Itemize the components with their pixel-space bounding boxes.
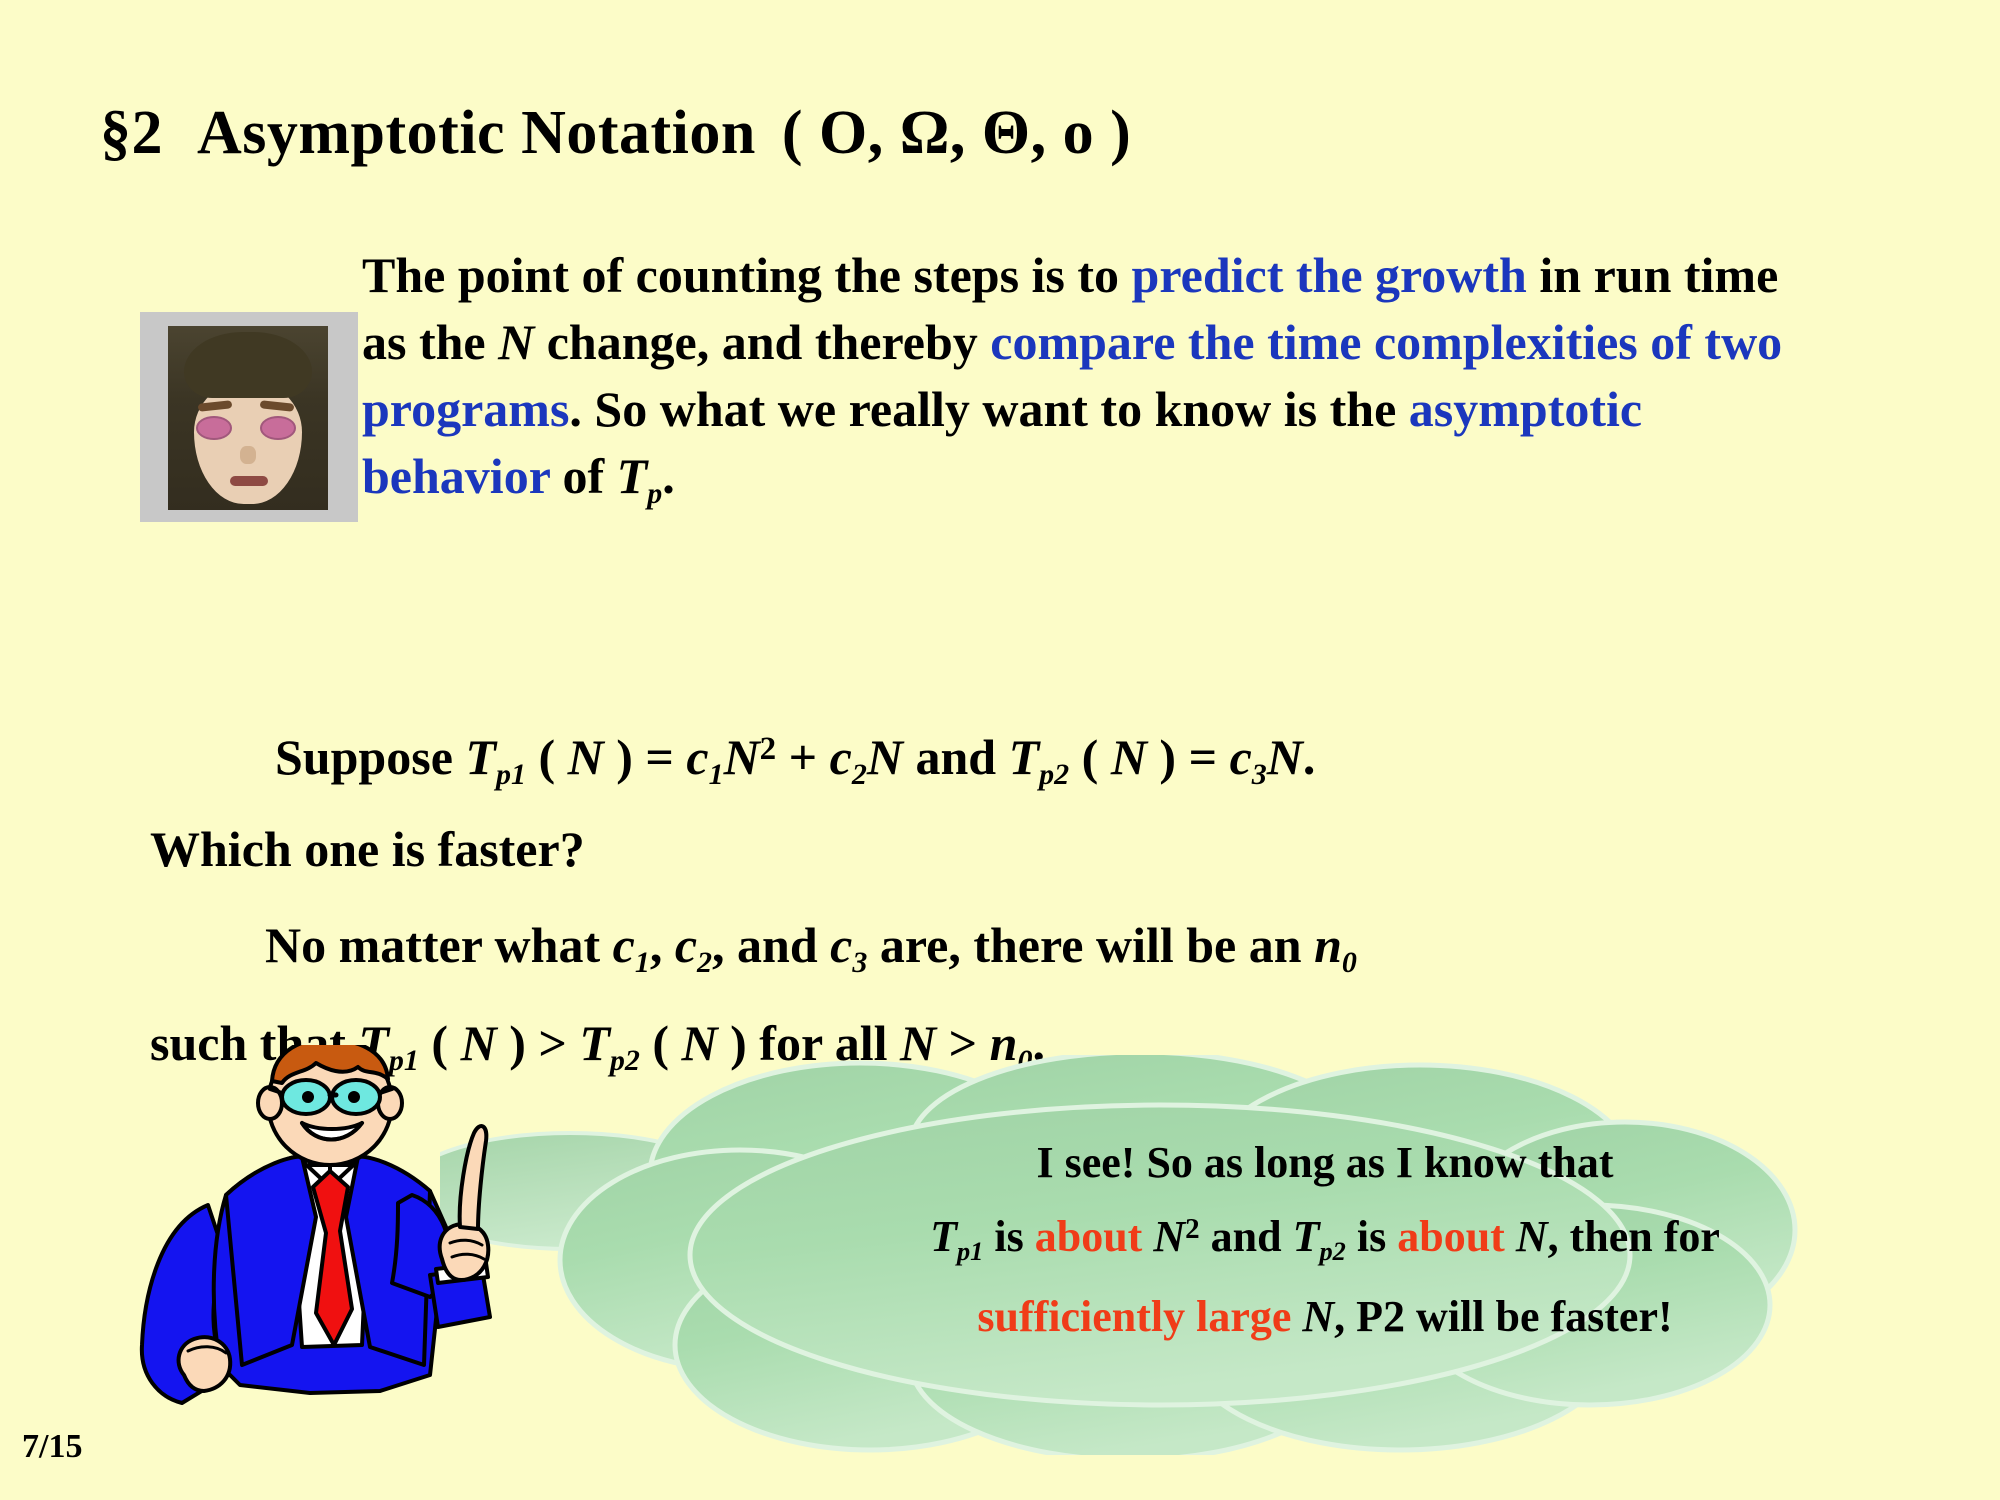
title-heading: Asymptotic Notation [197, 99, 756, 167]
exponent-two: 2 [760, 731, 777, 767]
nm-comma-2: , and [712, 917, 830, 973]
bubble-p2-faster: , P2 will be faster! [1334, 1292, 1672, 1341]
mouth-shape [230, 476, 268, 486]
plus-operator: + [776, 729, 830, 785]
slide-canvas: §2Asymptotic Notation( O, Ω, Θ, o ) The … [0, 0, 2000, 1500]
section-number: §2 [100, 99, 163, 167]
main-text-seg1: The point of counting the steps is to [362, 247, 1132, 303]
threshold-n0-subscript: 0 [1342, 946, 1357, 979]
page-title: §2Asymptotic Notation( O, Ω, Θ, o ) [100, 98, 1131, 169]
pointing-businessman-illustration [130, 1045, 530, 1465]
tp2-arg-n: N [1111, 729, 1147, 785]
bubble-tp2-subscript: p2 [1319, 1236, 1345, 1266]
tp1-close-eq: ) = [604, 729, 687, 785]
bubble-is-1: is [983, 1212, 1034, 1261]
tp1-open-paren: ( [526, 729, 568, 785]
coef-c2: c [830, 729, 852, 785]
tp2-close-eq: ) = [1147, 729, 1230, 785]
term-n-squared: N [724, 729, 760, 785]
nm-coef-c1: c [613, 917, 635, 973]
face-photo-inner [168, 326, 328, 510]
woman-face-photo [140, 312, 358, 522]
main-text-seg6: . [662, 448, 675, 504]
tp1-subscript: p1 [496, 758, 526, 791]
tp2-subscript: p2 [1039, 758, 1069, 791]
main-text-seg5: of [550, 448, 617, 504]
bubble-about-2: about [1397, 1212, 1505, 1261]
coef-c1: c [686, 729, 708, 785]
bubble-tp1-subscript: p1 [957, 1236, 983, 1266]
variable-t: T [617, 448, 648, 504]
bubble-is-2: is [1346, 1212, 1397, 1261]
nm-mid-text: are, there will be an [867, 917, 1314, 973]
term-n: N [867, 729, 903, 785]
and-conjunction: and [903, 729, 1009, 785]
term-n-2: N [1267, 729, 1303, 785]
bubble-n-3: N [1291, 1292, 1334, 1341]
bubble-then-for: , then for [1548, 1212, 1720, 1261]
coef-c3-subscript: 3 [1252, 758, 1267, 791]
nm-coef-c3-subscript: 3 [852, 946, 867, 979]
bubble-tp1: T [930, 1212, 957, 1261]
threshold-n0: n [1314, 917, 1342, 973]
main-text-seg3: change, and thereby [534, 314, 990, 370]
main-text-seg4: . So what we really want to know is the [569, 381, 1408, 437]
variable-t-subscript: p [647, 477, 662, 510]
suppose-lead: Suppose [275, 729, 465, 785]
suppose-period: . [1303, 729, 1316, 785]
coef-c1-subscript: 1 [709, 758, 724, 791]
variable-n: N [498, 314, 534, 370]
bubble-line-3: sufficiently large N, P2 will be faster! [820, 1284, 1830, 1350]
nm-coef-c2: c [675, 917, 697, 973]
thought-bubble-text: I see! So as long as I know that Tp1 is … [820, 1130, 1830, 1350]
bubble-n-2: N [1505, 1212, 1548, 1261]
bubble-about-1: about [1035, 1212, 1143, 1261]
coef-c3: c [1230, 729, 1252, 785]
coef-c2-subscript: 2 [852, 758, 867, 791]
page-indicator: 7/15 [22, 1428, 82, 1466]
tp2-symbol: T [1009, 729, 1040, 785]
highlight-predict-growth: predict the growth [1132, 247, 1527, 303]
title-notations: ( O, Ω, Θ, o ) [782, 99, 1131, 167]
suppose-paragraph: Suppose Tp1 ( N ) = c1N2 + c2N and Tp2 (… [150, 712, 1910, 887]
nm-coef-c3: c [830, 917, 852, 973]
sunglasses-lens-left [196, 416, 232, 440]
tp1-symbol: T [465, 729, 496, 785]
bubble-and: and [1200, 1212, 1293, 1261]
bubble-tp2: T [1293, 1212, 1320, 1261]
tp1-arg-n: N [568, 729, 604, 785]
nm-comma-1: , [650, 917, 675, 973]
tp2-open-paren: ( [1069, 729, 1111, 785]
nomatter-lead: No matter what [265, 917, 613, 973]
bubble-n-1: N [1142, 1212, 1185, 1261]
main-paragraph: The point of counting the steps is to pr… [362, 242, 1832, 527]
which-one-faster-question: Which one is faster? [150, 821, 585, 877]
bubble-line-1: I see! So as long as I know that [820, 1130, 1830, 1196]
nm-coef-c1-subscript: 1 [635, 946, 650, 979]
bubble-sufficiently-large: sufficiently large [977, 1292, 1291, 1341]
bangs-shape [184, 332, 312, 398]
nose-shape [240, 446, 256, 464]
nm-coef-c2-subscript: 2 [697, 946, 712, 979]
sunglasses-lens-right [260, 416, 296, 440]
bubble-exponent-2: 2 [1185, 1213, 1200, 1245]
bubble-line-2: Tp1 is about N2 and Tp2 is about N, then… [820, 1196, 1830, 1284]
